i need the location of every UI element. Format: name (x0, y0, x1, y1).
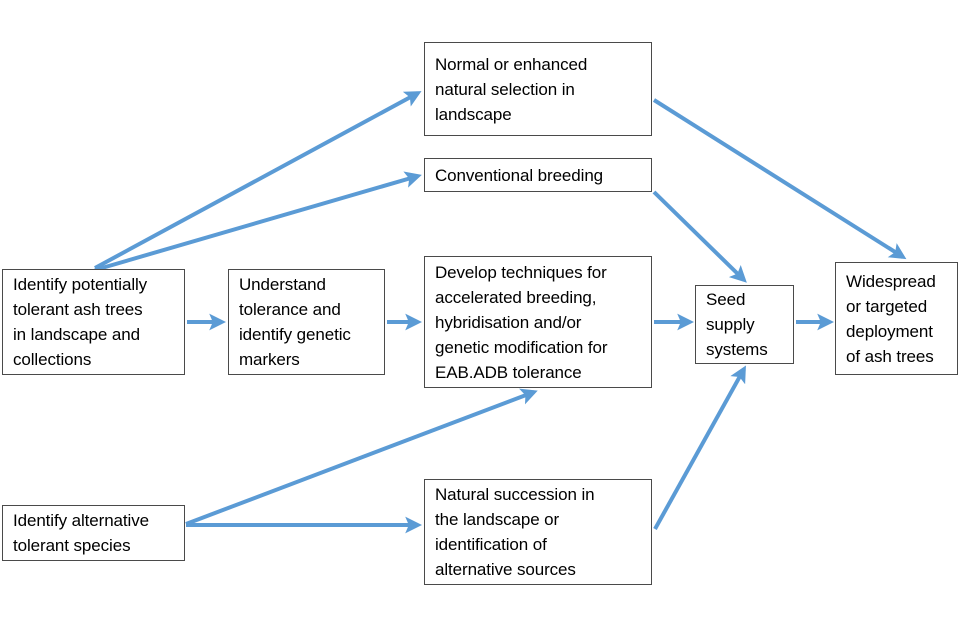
node-label-normal-selection: Normal or enhanced natural selection in … (435, 52, 587, 127)
node-natural-succession[interactable]: Natural succession in the landscape or i… (424, 479, 652, 585)
node-label-understand-tolerance: Understand tolerance and identify geneti… (239, 272, 351, 372)
node-widespread-deployment[interactable]: Widespread or targeted deployment of ash… (835, 262, 958, 375)
node-label-natural-succession: Natural succession in the landscape or i… (435, 482, 594, 582)
node-identify-alternative-species[interactable]: Identify alternative tolerant species (2, 505, 185, 561)
node-label-identify-alternative-species: Identify alternative tolerant species (13, 508, 149, 558)
edge-ash-to-conventional-breeding (95, 176, 418, 270)
node-identify-tolerant-ash[interactable]: Identify potentially tolerant ash trees … (2, 269, 185, 375)
edge-ash-to-normal-selection (95, 93, 418, 268)
flowchart-diagram: Normal or enhanced natural selection in … (0, 0, 960, 640)
node-label-seed-supply: Seed supply systems (706, 287, 768, 362)
edge-natural-succession-to-seed (655, 369, 744, 529)
node-label-develop-techniques: Develop techniques for accelerated breed… (435, 260, 607, 385)
node-normal-selection[interactable]: Normal or enhanced natural selection in … (424, 42, 652, 136)
node-seed-supply[interactable]: Seed supply systems (695, 285, 794, 364)
node-understand-tolerance[interactable]: Understand tolerance and identify geneti… (228, 269, 385, 375)
node-label-identify-tolerant-ash: Identify potentially tolerant ash trees … (13, 272, 147, 372)
node-label-conventional-breeding: Conventional breeding (435, 163, 603, 188)
node-conventional-breeding[interactable]: Conventional breeding (424, 158, 652, 192)
edge-normal-selection-to-widespread (654, 100, 903, 257)
node-develop-techniques[interactable]: Develop techniques for accelerated breed… (424, 256, 652, 388)
edge-conventional-breeding-to-seed (654, 192, 744, 280)
node-label-widespread-deployment: Widespread or targeted deployment of ash… (846, 269, 936, 369)
